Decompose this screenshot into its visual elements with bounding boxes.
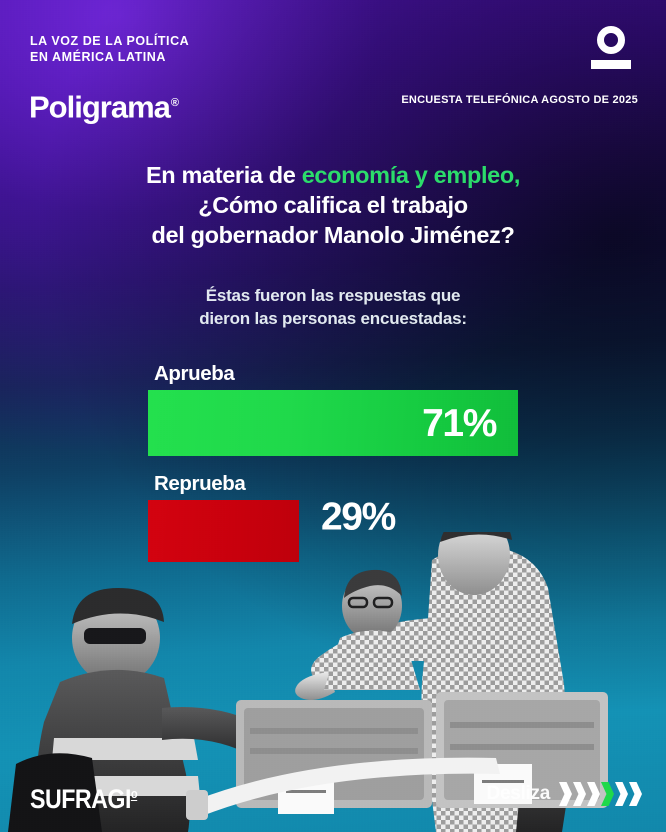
registered-mark: ® <box>171 97 179 109</box>
chevron-right-icon <box>587 782 600 806</box>
chevron-right-icon <box>573 782 586 806</box>
logo-ring-shape <box>597 26 625 54</box>
bar-reprueba <box>148 500 299 562</box>
chevron-group <box>559 782 642 806</box>
subtitle-line-1: Éstas fueron las respuestas que <box>206 286 461 305</box>
subtitle-line-2: dieron las personas encuestadas: <box>199 309 467 328</box>
headline-accent: economía y empleo, <box>302 162 520 188</box>
sufragio-logo: SUFRAGIo <box>30 779 137 814</box>
subtitle: Éstas fueron las respuestas que dieron l… <box>0 284 666 330</box>
chevron-right-icon <box>601 782 614 806</box>
results-bar-chart: Aprueba 71% Reprueba 29% <box>148 362 548 562</box>
sufragio-logo-superscript: o <box>131 786 137 801</box>
bar-value-reprueba: 29% <box>321 498 395 537</box>
chevron-right-icon <box>629 782 642 806</box>
chevron-right-icon <box>615 782 628 806</box>
bar-value-aprueba: 71% <box>422 404 518 443</box>
sufragio-logo-text: SUFRAGI <box>30 784 131 814</box>
circle-over-bar-icon <box>589 26 633 72</box>
infographic-canvas: LA VOZ DE LA POLÍTICA EN AMÉRICA LATINA … <box>0 0 666 832</box>
chevron-right-icon <box>559 782 572 806</box>
swipe-indicator[interactable]: Desliza <box>487 782 642 806</box>
tagline-line-1: LA VOZ DE LA POLÍTICA <box>30 33 189 49</box>
brand-name: Poligrama <box>29 89 170 124</box>
bar-label-aprueba: Aprueba <box>154 362 548 386</box>
bar-aprueba: 71% <box>148 390 518 456</box>
swipe-label: Desliza <box>487 783 550 805</box>
brand-tagline: LA VOZ DE LA POLÍTICA EN AMÉRICA LATINA <box>30 33 189 65</box>
headline-line-3: del gobernador Manolo Jiménez? <box>152 222 515 248</box>
headline-line-2: ¿Cómo califica el trabajo <box>198 192 467 218</box>
brand-wordmark: Poligrama® <box>29 86 179 124</box>
page-title: En materia de economía y empleo, ¿Cómo c… <box>0 160 666 250</box>
headline-line-1-prefix: En materia de <box>146 162 302 188</box>
chart-row-reprueba: Reprueba 29% <box>148 472 548 562</box>
bar-label-reprueba: Reprueba <box>154 472 548 496</box>
chart-row-aprueba: Aprueba 71% <box>148 362 548 456</box>
survey-date-label: ENCUESTA TELEFÓNICA AGOSTO DE 2025 <box>401 94 638 106</box>
tagline-line-2: EN AMÉRICA LATINA <box>30 49 189 65</box>
logo-bar-shape <box>591 60 631 69</box>
